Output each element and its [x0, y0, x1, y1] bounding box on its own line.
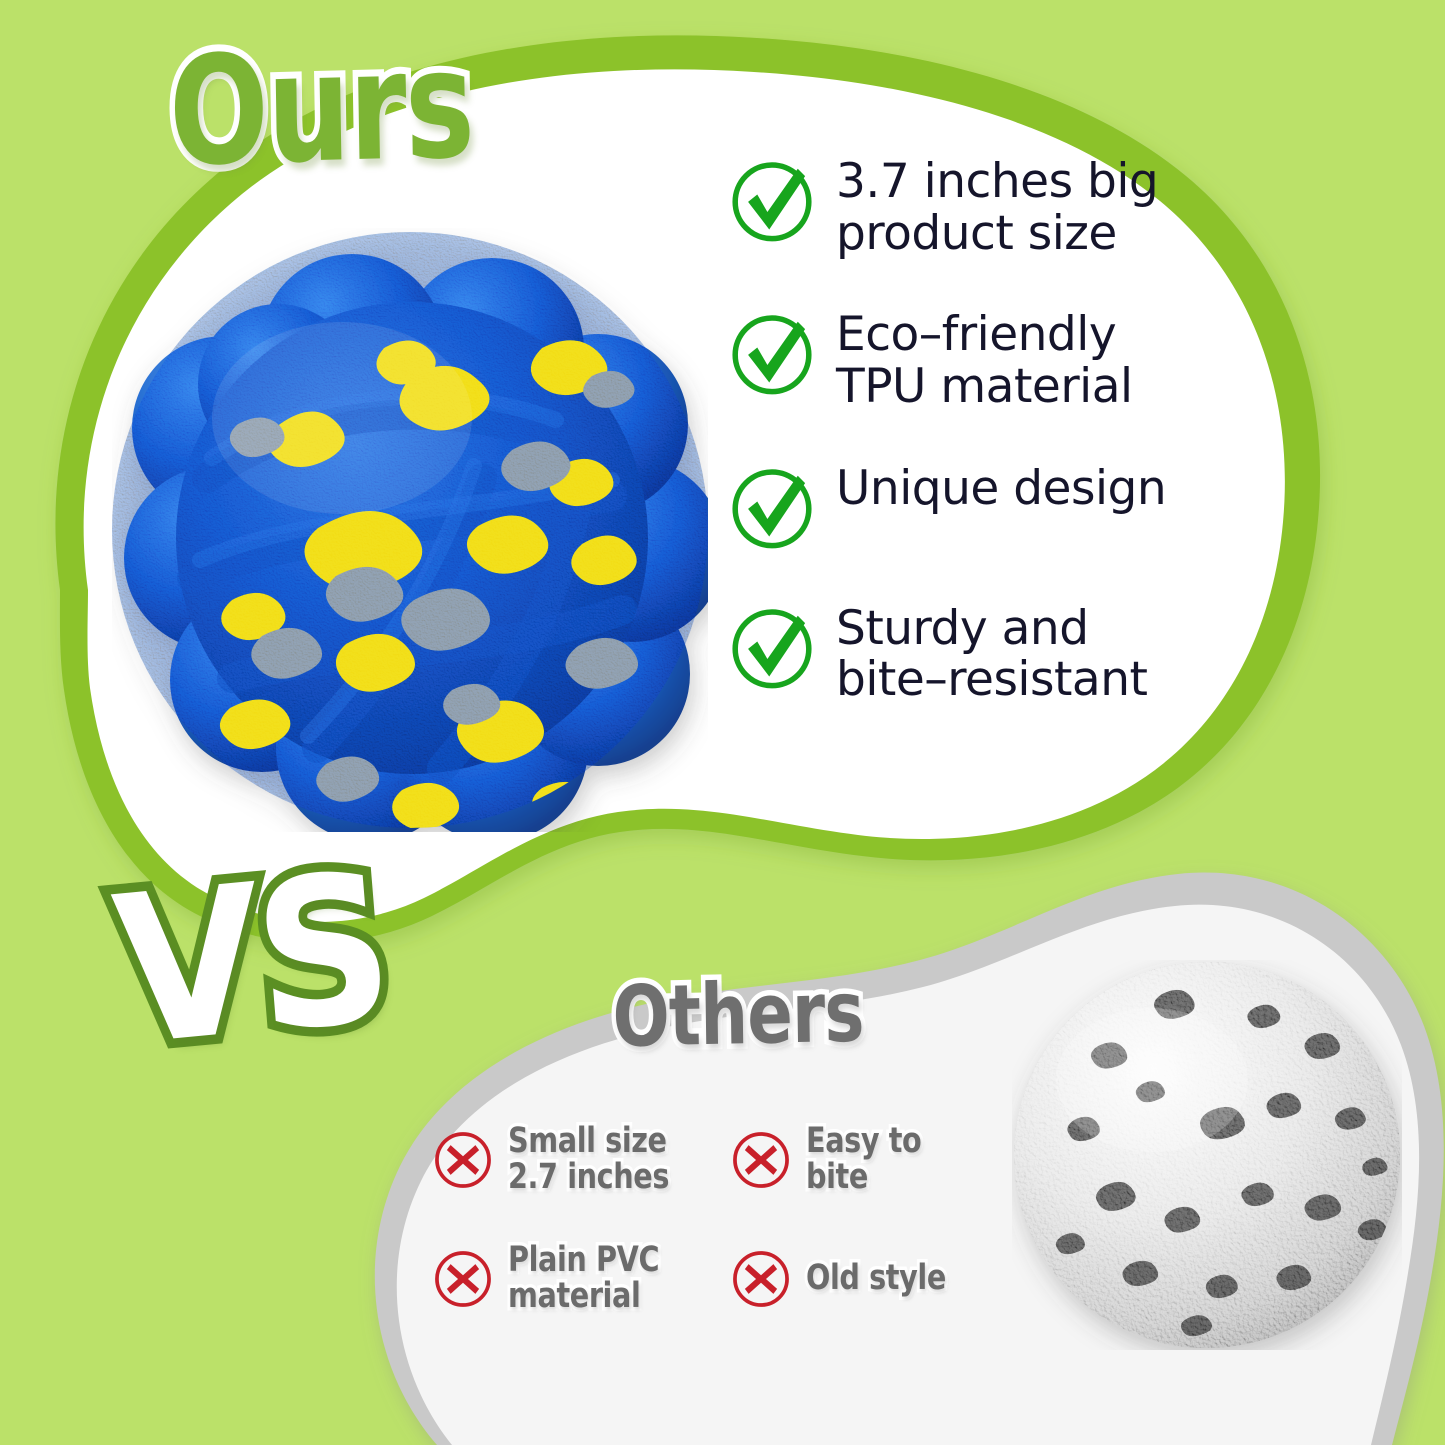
gray-speckled-ball-image [1012, 960, 1402, 1350]
check-circle-icon [726, 307, 818, 399]
x-circle-icon [432, 1248, 494, 1310]
feature-item-size: 3.7 inches big product size [726, 152, 1196, 259]
drawback-label: Old style [806, 1261, 946, 1297]
drawback-item-pvc: Plain PVC material [432, 1243, 730, 1314]
page-title-ours: Ours [168, 30, 474, 188]
blue-knotted-ball-image [112, 228, 708, 832]
drawback-item-easy-bite: Easy to bite [730, 1124, 1012, 1195]
drawback-label: Plain PVC material [508, 1243, 659, 1314]
feature-item-design: Unique design [726, 459, 1196, 553]
others-drawback-list: Small size 2.7 inches Easy to bite Plain… [432, 1124, 1012, 1315]
feature-label: Eco–friendly TPU material [836, 305, 1133, 412]
drawback-label: Small size 2.7 inches [508, 1124, 669, 1195]
check-circle-icon [726, 154, 818, 246]
check-circle-icon [726, 601, 818, 693]
drawback-item-small-size: Small size 2.7 inches [432, 1124, 730, 1195]
x-circle-icon [730, 1248, 792, 1310]
feature-item-material: Eco–friendly TPU material [726, 305, 1196, 412]
feature-label: Sturdy and bite–resistant [836, 599, 1147, 706]
infographic-canvas: Ours VS Others 3.7 inches big product si… [0, 0, 1445, 1445]
page-title-others: Others [612, 970, 864, 1059]
versus-label: VS [108, 846, 394, 1076]
x-circle-icon [432, 1129, 494, 1191]
drawback-item-old-style: Old style [730, 1243, 1012, 1314]
ours-feature-list: 3.7 inches big product size Eco–friendly… [726, 152, 1196, 706]
check-circle-icon [726, 461, 818, 553]
x-circle-icon [730, 1129, 792, 1191]
feature-label: 3.7 inches big product size [836, 152, 1158, 259]
drawback-label: Easy to bite [806, 1124, 975, 1195]
feature-label: Unique design [836, 459, 1166, 515]
feature-item-durable: Sturdy and bite–resistant [726, 599, 1196, 706]
